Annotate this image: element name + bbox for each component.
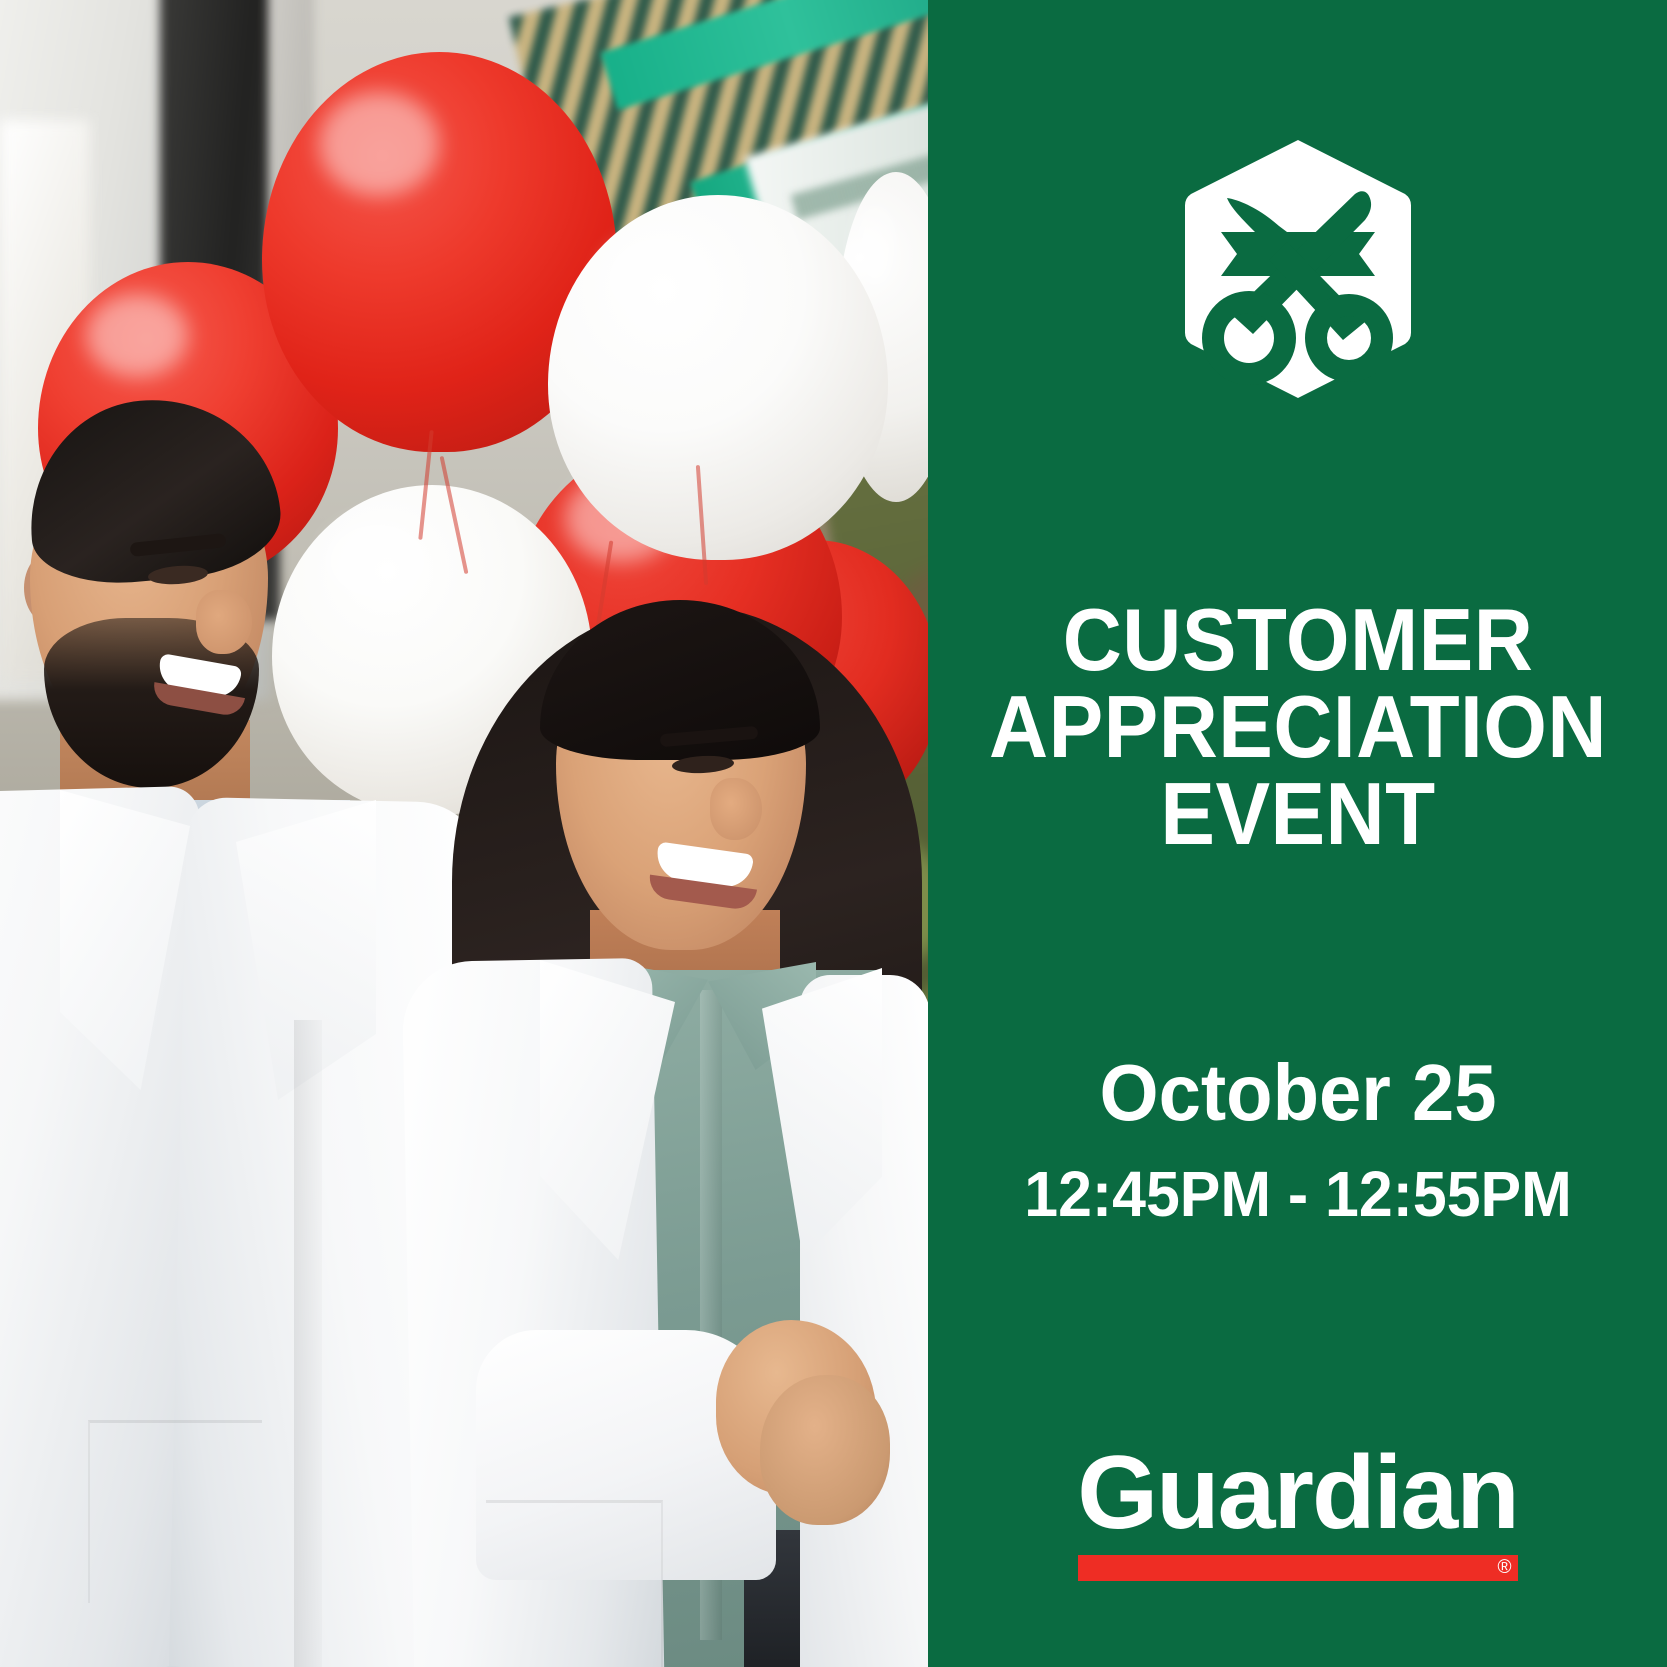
female-pharmacist-hand-secondary xyxy=(760,1375,890,1525)
male-pharmacist-coat-placket xyxy=(294,1020,322,1667)
male-pharmacist-nose xyxy=(196,590,252,654)
guardian-logo: Guardian ® xyxy=(928,1441,1667,1581)
customer-appreciation-event-poster: CUSTOMER APPRECIATION EVENT October 25 1… xyxy=(0,0,1667,1667)
male-pharmacist-coat-pocket xyxy=(88,1420,262,1603)
headline-line-1: CUSTOMER xyxy=(981,596,1613,683)
event-datetime: October 25 12:45PM - 12:55PM xyxy=(958,1051,1638,1228)
headline-line-2: APPRECIATION xyxy=(981,683,1613,770)
female-pharmacist-nose xyxy=(710,778,762,840)
ribbon-cutting-scissors-hexagon-icon xyxy=(1183,138,1413,400)
guardian-logo-underline-bar: ® xyxy=(1078,1555,1518,1581)
page-title: CUSTOMER APPRECIATION EVENT xyxy=(981,596,1613,857)
event-time: 12:45PM - 12:55PM xyxy=(975,1161,1621,1228)
registered-trademark-symbol: ® xyxy=(1498,1556,1512,1580)
headline-line-3: EVENT xyxy=(981,770,1613,857)
balloon-white-right xyxy=(548,195,888,560)
event-details-panel: CUSTOMER APPRECIATION EVENT October 25 1… xyxy=(928,0,1667,1667)
female-pharmacist-coat-pocket xyxy=(486,1500,663,1667)
event-date: October 25 xyxy=(975,1051,1621,1135)
pharmacy-team-photo xyxy=(0,0,928,1667)
guardian-wordmark: Guardian xyxy=(1077,1441,1518,1545)
